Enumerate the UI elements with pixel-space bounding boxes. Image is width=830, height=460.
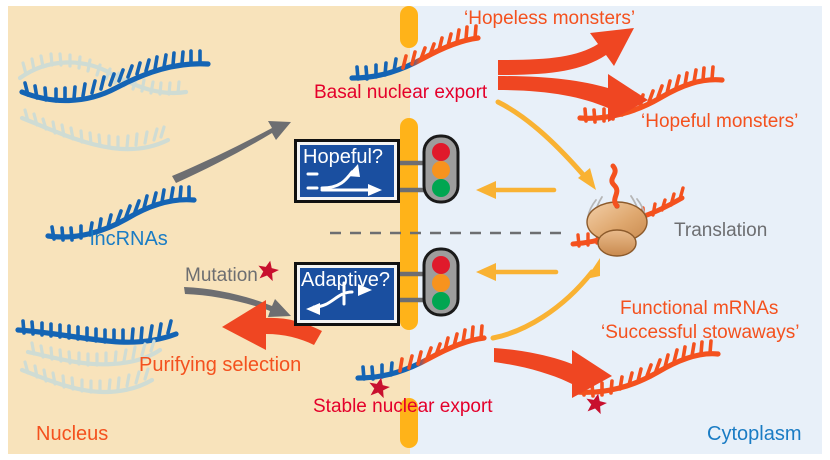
label-functional-mrnas-line2: ‘Successful stowaways’ — [601, 322, 800, 343]
label-purifying-selection: Purifying selection — [139, 354, 301, 376]
label-hopeless-monsters: ‘Hopeless monsters’ — [464, 8, 635, 29]
traffic-lamp-red — [432, 256, 450, 274]
traffic-lamp-green — [432, 179, 450, 197]
label-mutation: Mutation — [185, 265, 258, 286]
label-translation: Translation — [674, 220, 767, 241]
road-sign-adaptive-label[interactable]: Adaptive? — [301, 269, 390, 291]
label-functional-mrnas-line1: Functional mRNAs — [620, 298, 778, 319]
road-sign-hopeful-label[interactable]: Hopeful? — [303, 146, 383, 168]
traffic-lamp-amber — [432, 161, 450, 179]
label-lncrnas: lncRNAs — [90, 228, 168, 250]
label-stable-nuclear-export: Stable nuclear export — [313, 396, 493, 417]
label-cytoplasm: Cytoplasm — [707, 423, 801, 445]
label-basal-nuclear-export: Basal nuclear export — [314, 82, 487, 103]
figure-canvas: Hopeful? Adaptive? Basal nuclear export … — [0, 0, 830, 460]
label-hopeful-monsters: ‘Hopeful monsters’ — [641, 111, 798, 132]
traffic-lamp-red — [432, 143, 450, 161]
traffic-lamp-green — [432, 292, 450, 310]
traffic-lamp-amber — [432, 274, 450, 292]
label-nucleus: Nucleus — [36, 423, 108, 445]
